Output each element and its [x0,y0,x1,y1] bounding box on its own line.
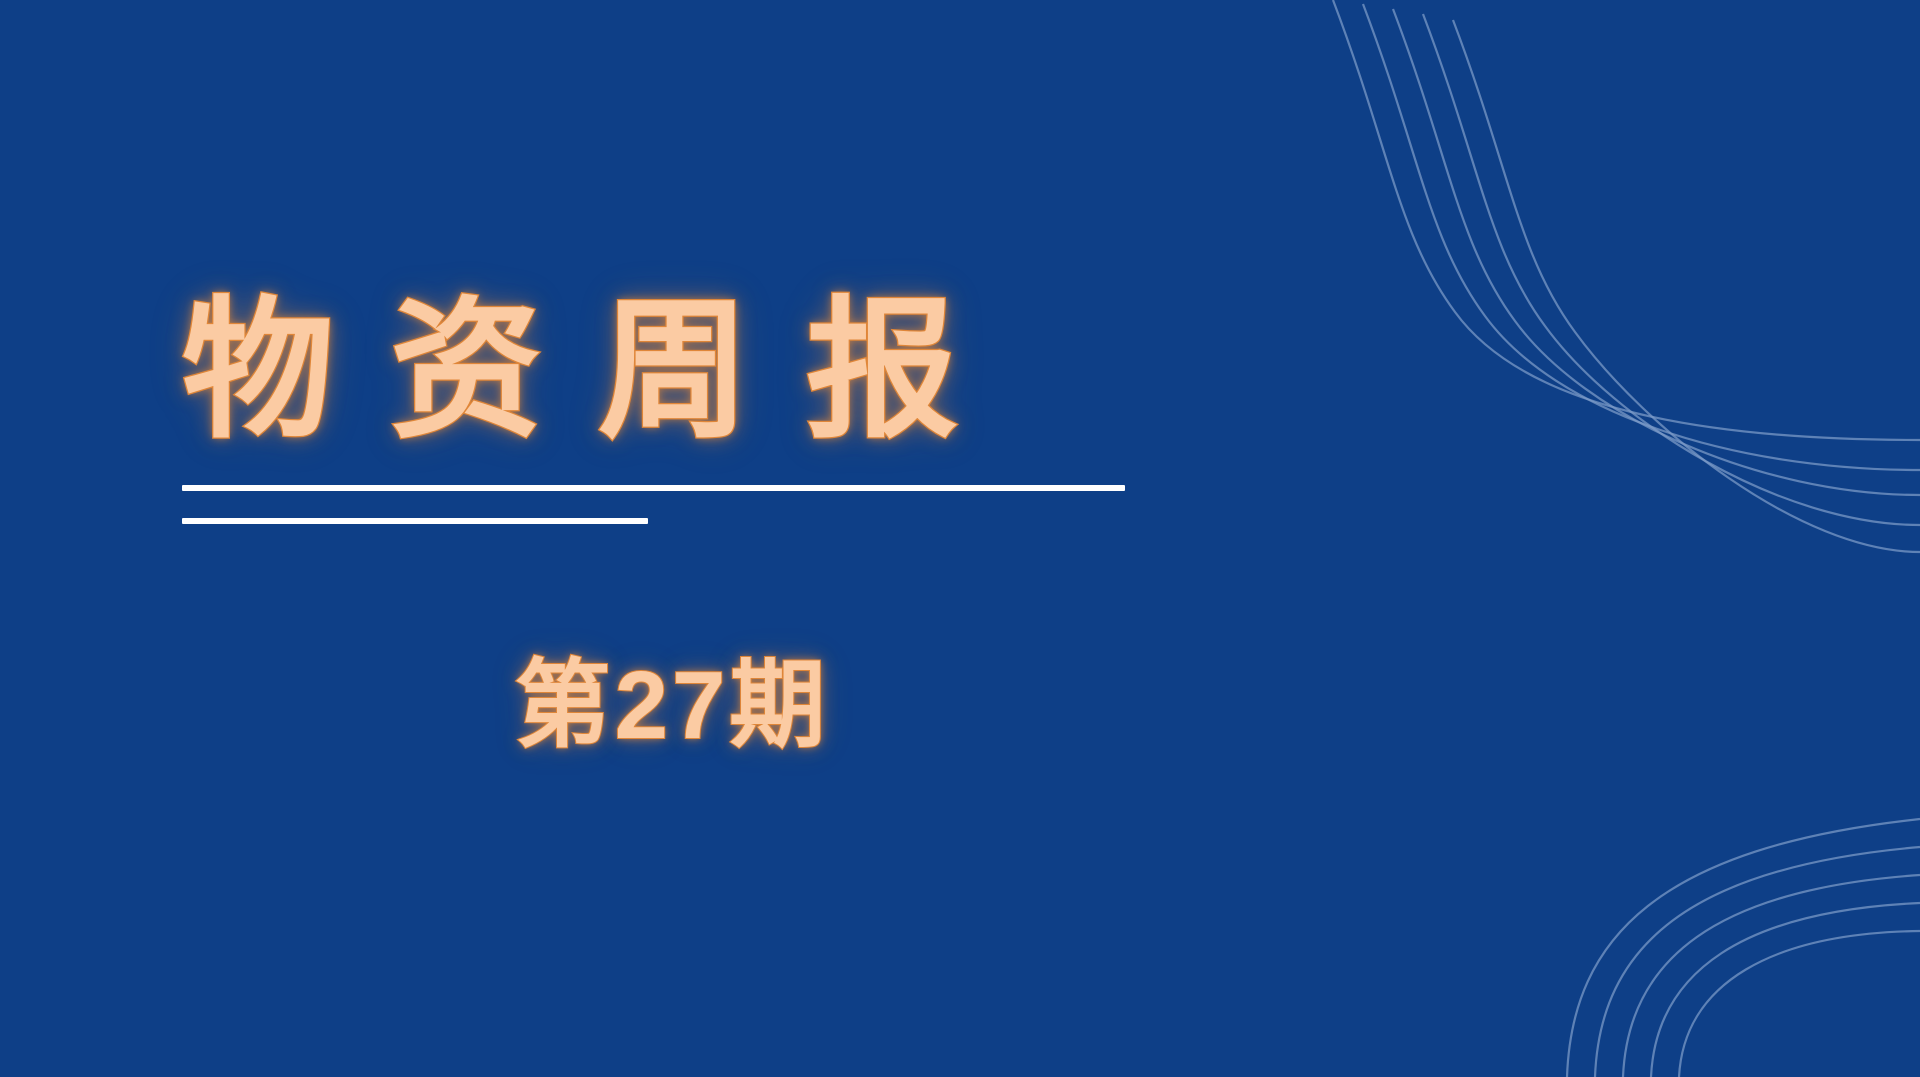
title-underline-long [182,485,1125,491]
top-right-curve-decoration-icon [1280,0,1920,600]
deco-curve-4 [1423,14,1920,525]
deco-arc-5 [1679,931,1920,1077]
deco-curve-5 [1453,20,1920,552]
deco-curve-3 [1393,9,1920,495]
bottom-right-curve-decoration-icon [1520,727,1920,1077]
title-block: 物资周报 [182,282,1182,524]
page-title: 物资周报 [182,282,1182,461]
deco-curve-1 [1333,0,1920,440]
issue-subtitle: 第27期 [182,648,1162,763]
deco-curve-2 [1363,4,1920,470]
title-underline-short [182,518,648,524]
deco-arc-1 [1567,819,1920,1077]
title-slide: 物资周报 第27期 [0,0,1920,1077]
deco-arc-2 [1595,847,1920,1077]
deco-arc-4 [1651,903,1920,1077]
deco-arc-3 [1623,875,1920,1077]
